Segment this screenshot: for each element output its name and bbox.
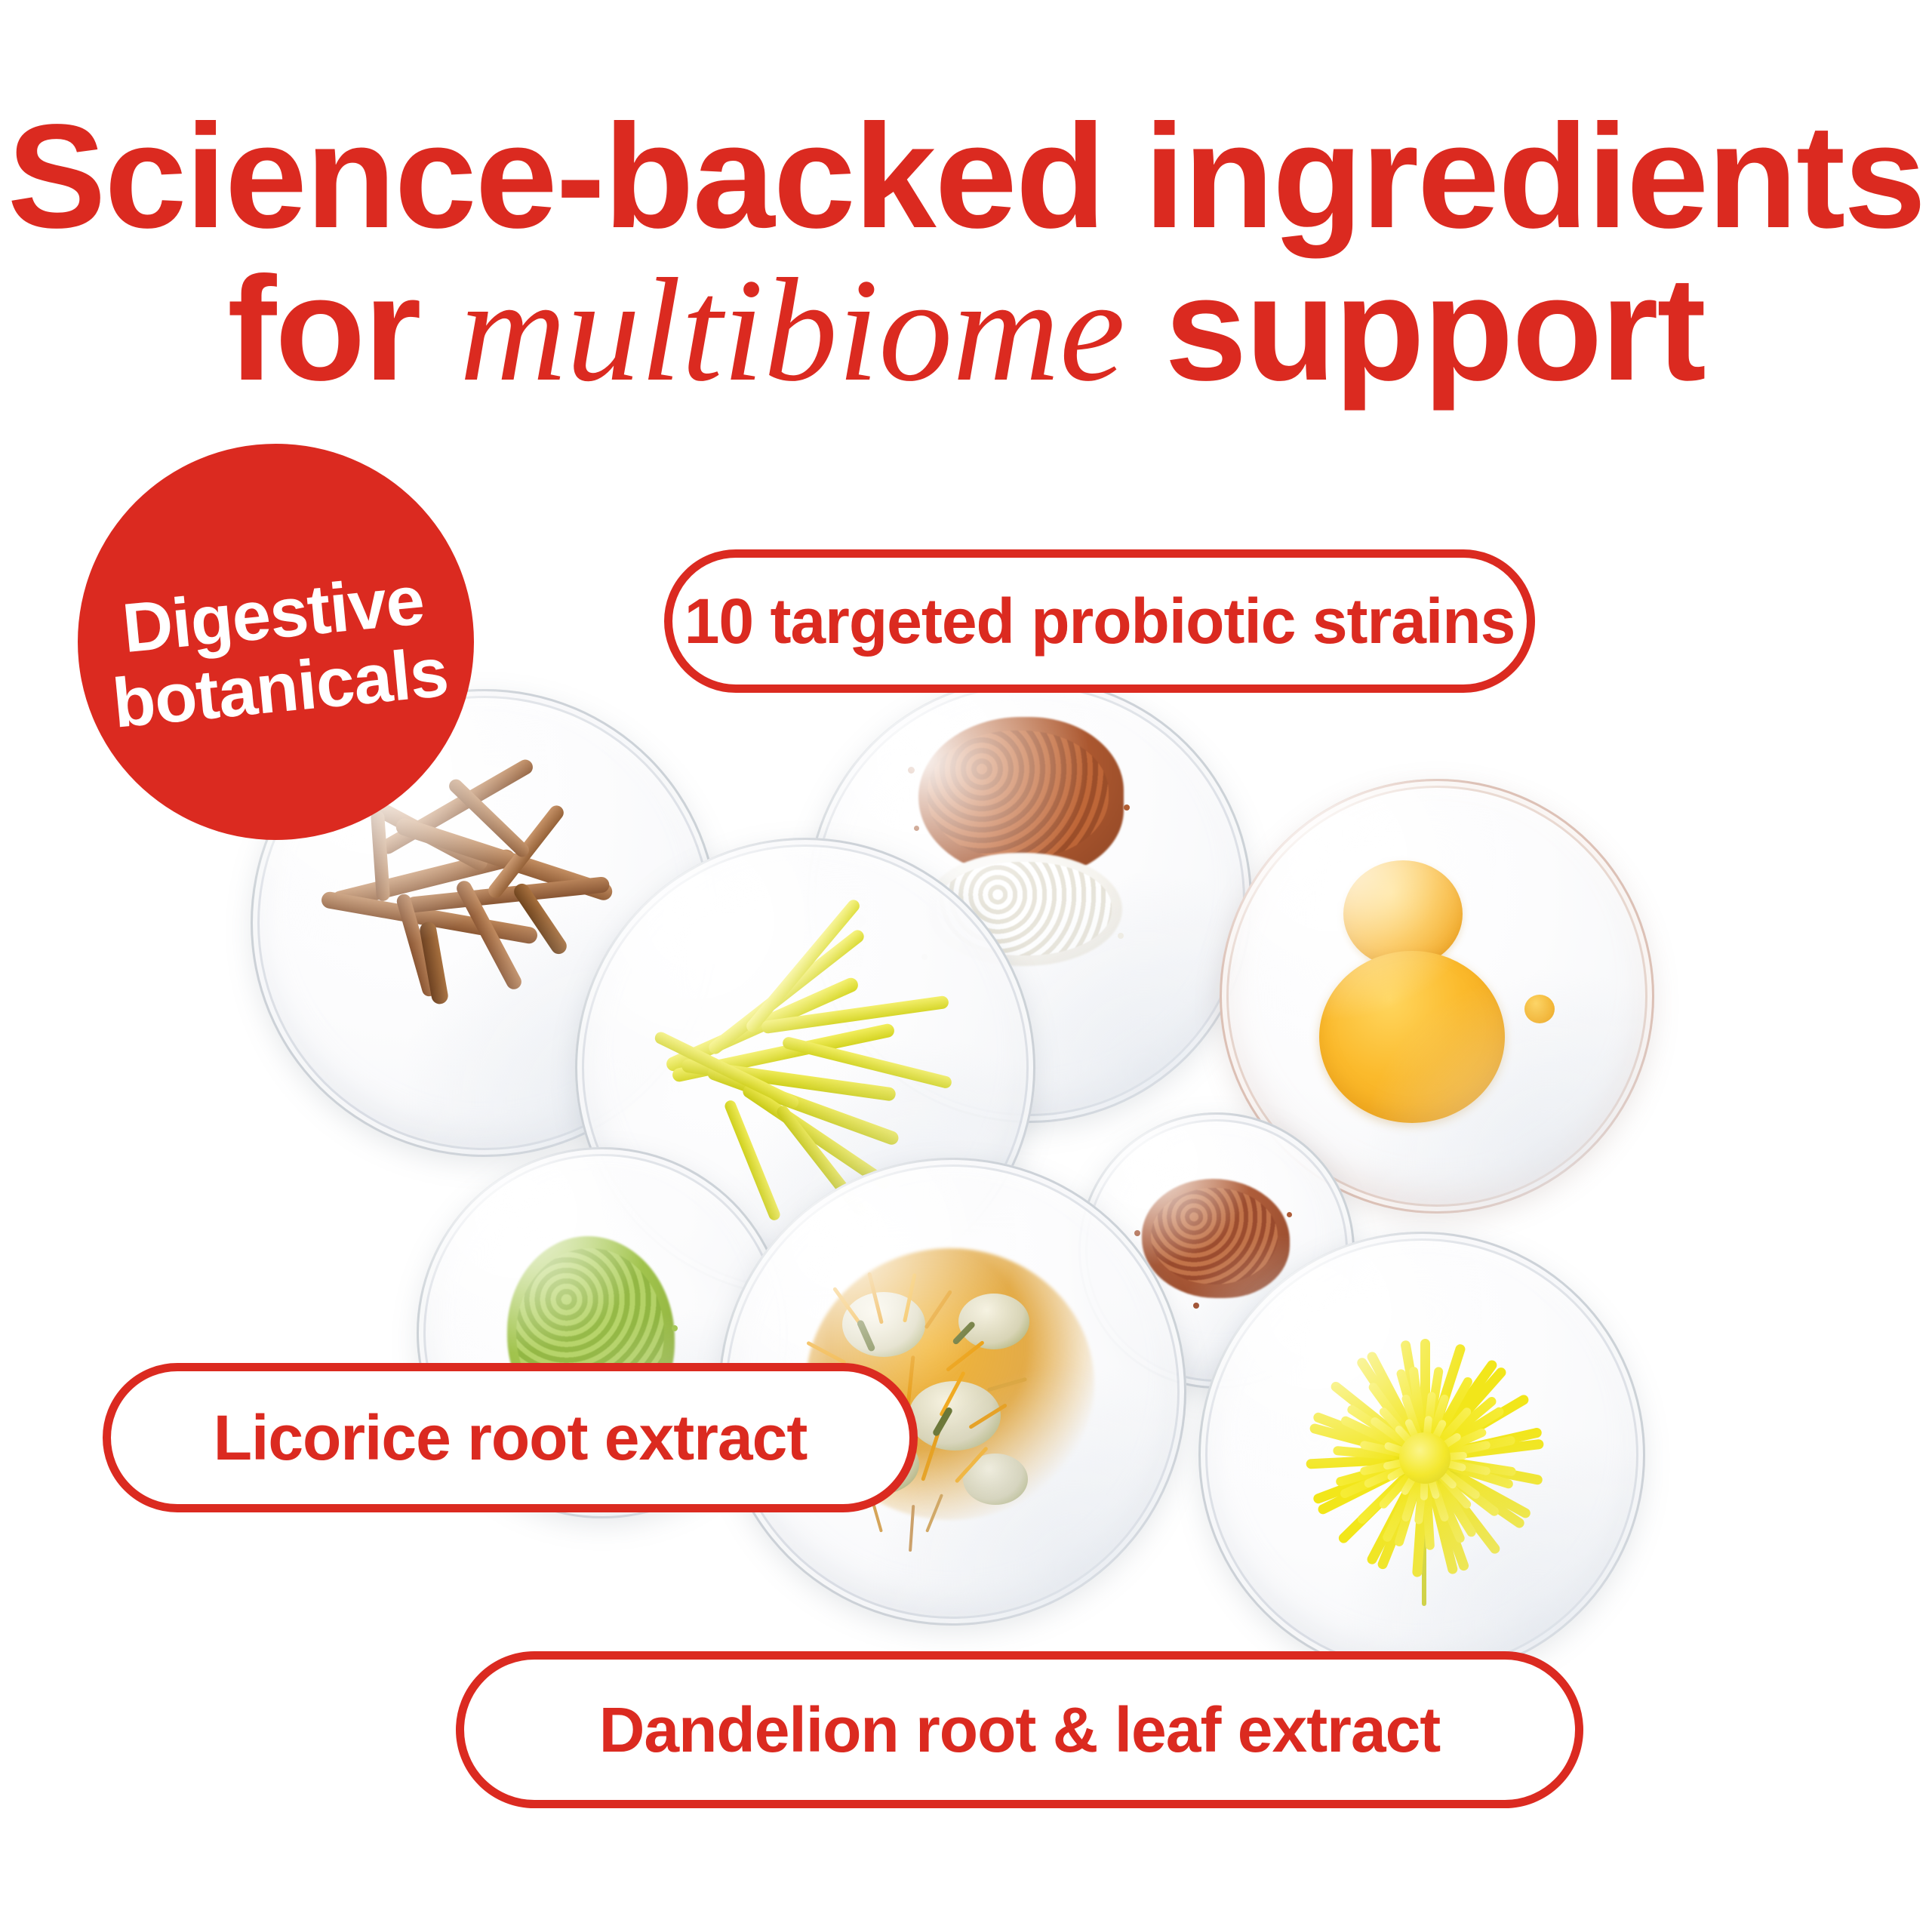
label-probiotic-strains: 10 targeted probiotic strains	[664, 549, 1535, 693]
badge-text: Digestive botanicals	[100, 542, 451, 742]
label-probiotic-strains-text: 10 targeted probiotic strains	[685, 585, 1515, 658]
digestive-botanicals-badge: Digestive botanicals	[78, 444, 474, 840]
headline-prefix: for	[227, 246, 460, 411]
yellow-chrysanthemum-flower	[1198, 1232, 1645, 1678]
label-dandelion-root-leaf-extract: Dandelion root & leaf extract	[456, 1651, 1583, 1808]
label-dandelion-root-leaf-extract-text: Dandelion root & leaf extract	[599, 1694, 1441, 1767]
headline-suffix: support	[1125, 246, 1705, 411]
chrysanthemum-dish	[1198, 1232, 1645, 1678]
headline: Science-backed ingredients for multibiom…	[0, 98, 1932, 409]
promo-graphic: Science-backed ingredients for multibiom…	[0, 0, 1932, 1932]
label-licorice-root-extract-text: Licorice root extract	[214, 1401, 808, 1475]
headline-line-1: Science-backed ingredients	[0, 98, 1932, 255]
label-licorice-root-extract: Licorice root extract	[103, 1363, 918, 1512]
headline-line-2: for multibiome support	[0, 251, 1932, 409]
chrysanthemum-center	[1399, 1432, 1451, 1484]
headline-italic-word: multibiome	[460, 248, 1125, 412]
